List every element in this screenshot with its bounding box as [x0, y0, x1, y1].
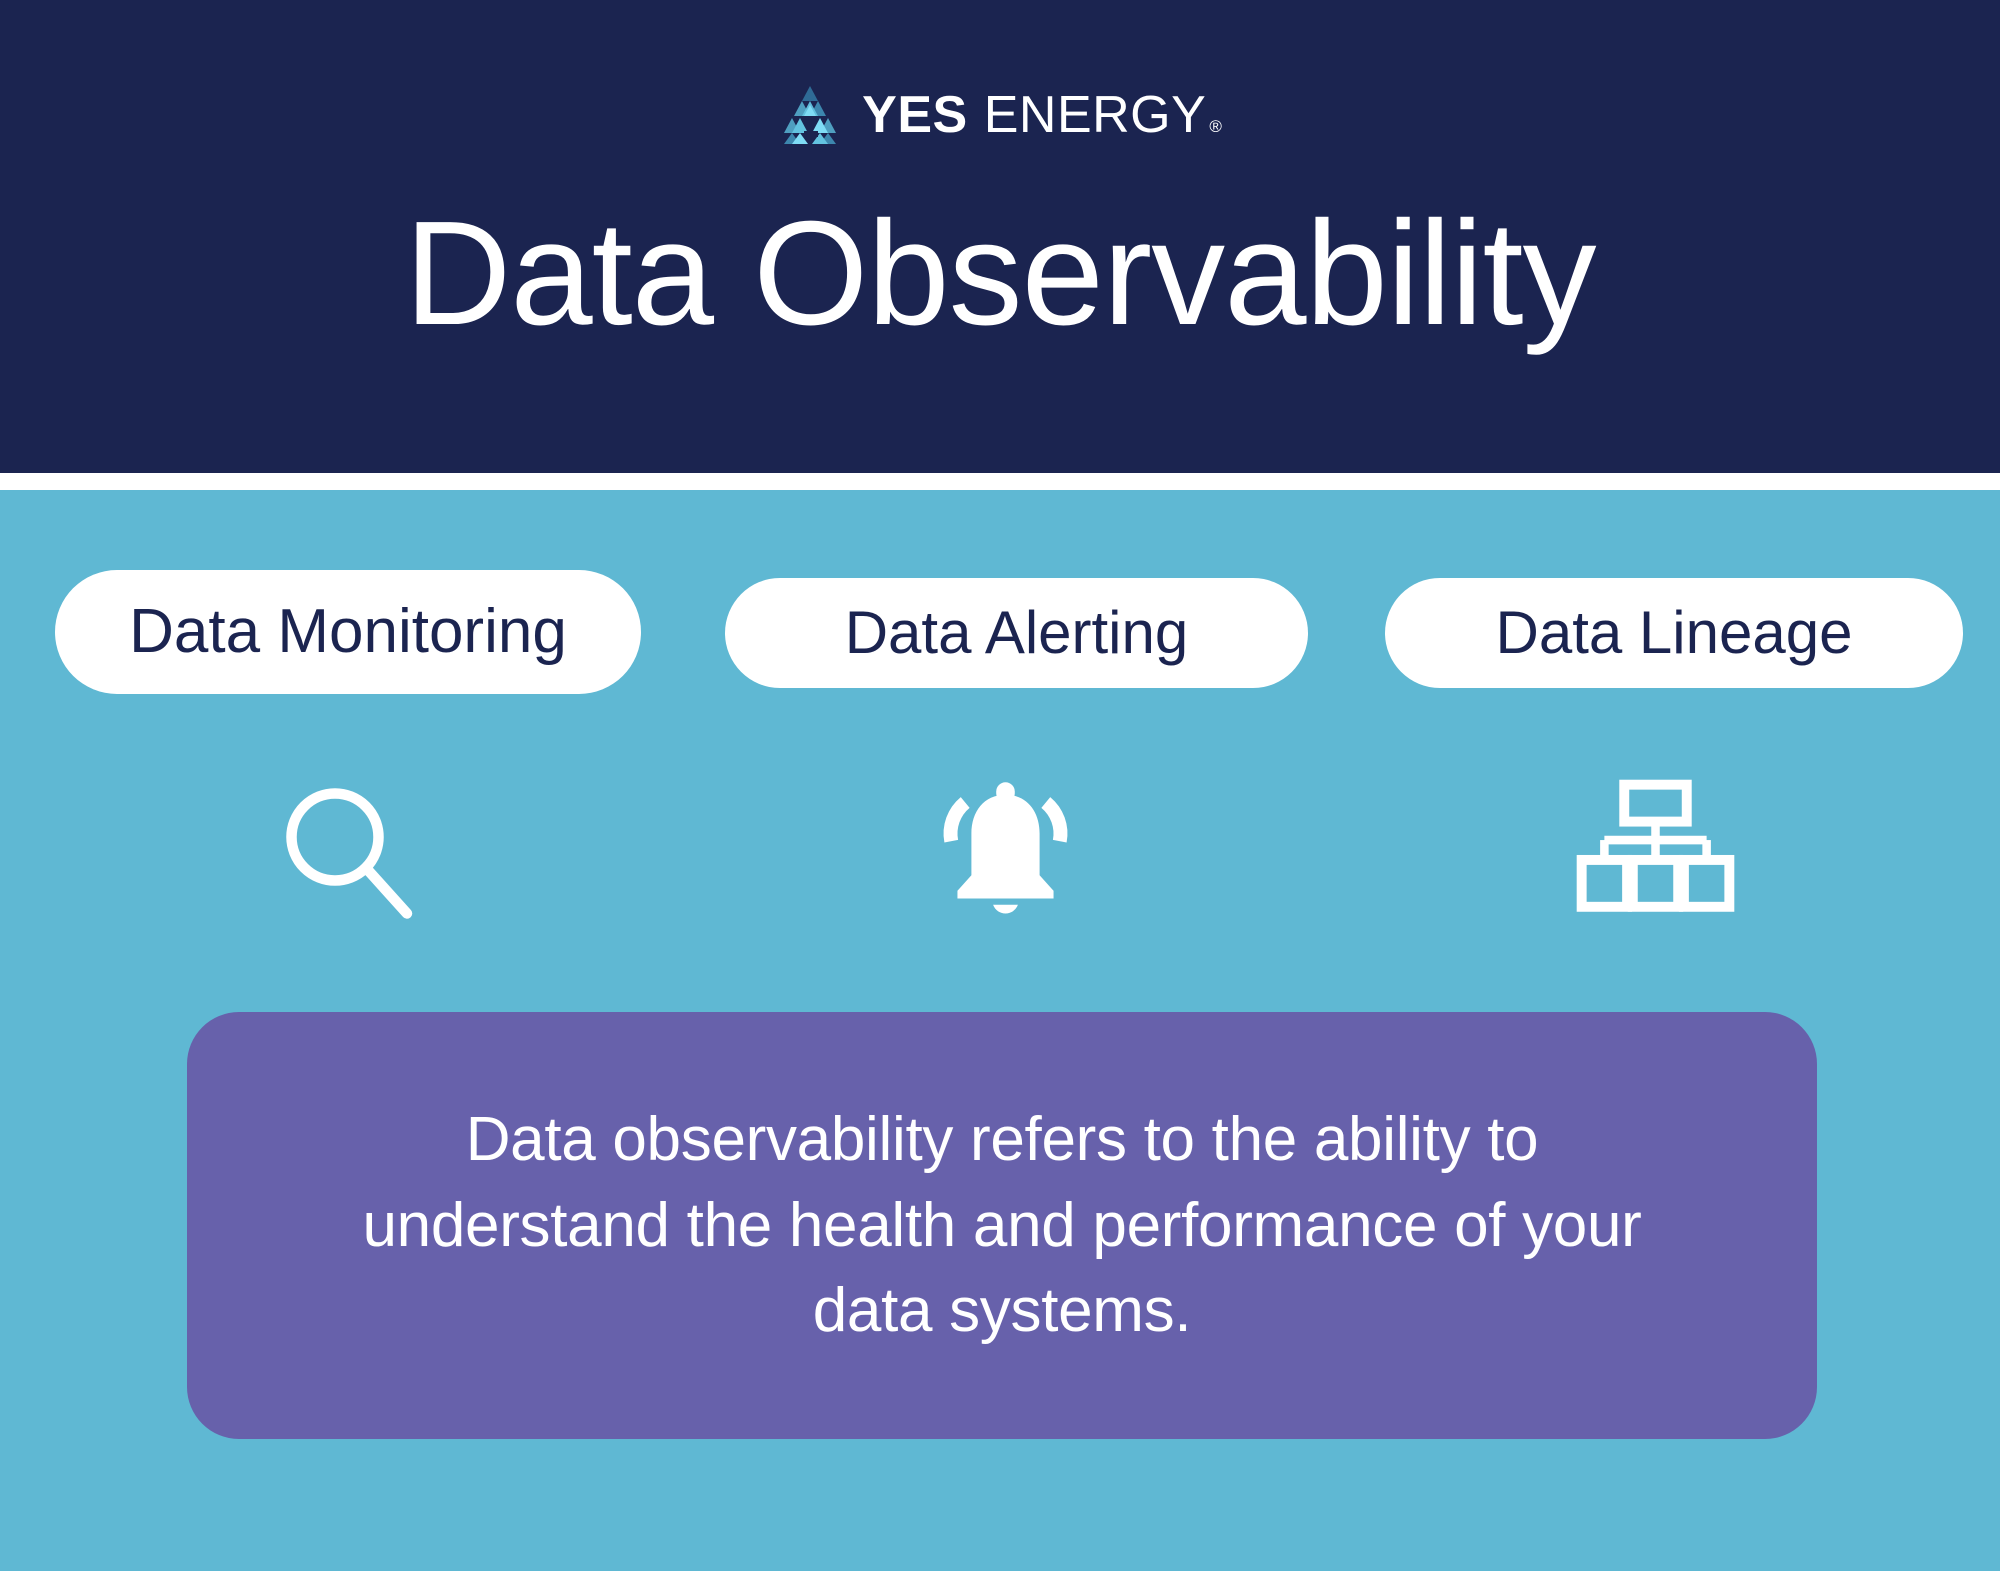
- logo-wordmark: YES ENERGY ®: [862, 89, 1222, 141]
- brand-logo: YES ENERGY ®: [778, 82, 1222, 148]
- infographic-canvas: YES ENERGY ® Data Observability Data Mon…: [0, 0, 2000, 1571]
- header-banner: YES ENERGY ® Data Observability: [0, 0, 2000, 473]
- pill-data-alerting[interactable]: Data Alerting: [725, 578, 1308, 688]
- header-divider: [0, 473, 2000, 490]
- logo-text-yes: YES: [862, 89, 968, 141]
- hierarchy-lineage-icon: [1573, 779, 1738, 921]
- registered-trademark-icon: ®: [1209, 118, 1222, 135]
- page-title: Data Observability: [404, 196, 1595, 351]
- icon-slot-data-monitoring: [250, 765, 450, 945]
- icon-slot-data-lineage: [1545, 755, 1765, 945]
- pill-label: Data Alerting: [845, 603, 1189, 663]
- pill-data-lineage[interactable]: Data Lineage: [1385, 578, 1963, 688]
- magnifying-glass-icon: [275, 780, 425, 930]
- yes-energy-triangle-logo-mark: [778, 85, 842, 145]
- description-text: Data observability refers to the ability…: [317, 1097, 1687, 1354]
- logo-text-energy: ENERGY: [984, 89, 1207, 141]
- pill-label: Data Monitoring: [129, 601, 567, 663]
- description-card: Data observability refers to the ability…: [187, 1012, 1817, 1439]
- pill-label: Data Lineage: [1496, 603, 1853, 663]
- bell-icon: [928, 773, 1083, 928]
- icon-slot-data-alerting: [905, 755, 1105, 945]
- feature-icon-row: [0, 745, 2000, 955]
- pill-data-monitoring[interactable]: Data Monitoring: [55, 570, 641, 694]
- feature-pill-row: Data Monitoring Data Alerting Data Linea…: [0, 558, 2000, 708]
